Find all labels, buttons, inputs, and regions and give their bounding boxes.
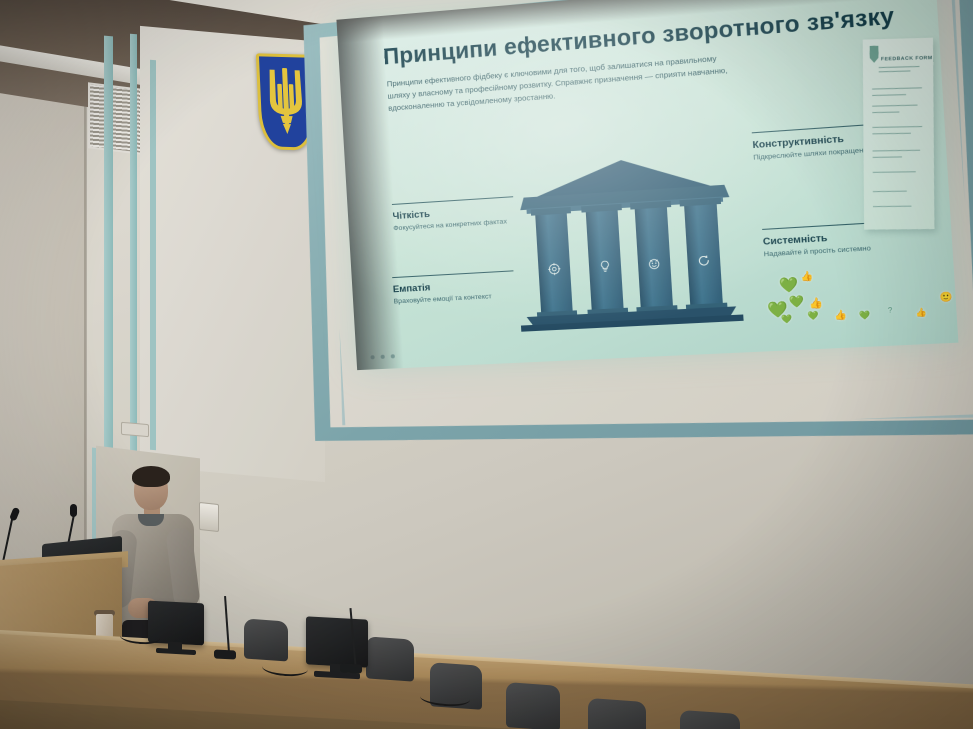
reaction-thumbsup-icon: 👍 — [800, 271, 813, 283]
slide-surface: Mentimeter Принципи ефективного зворотно… — [336, 0, 958, 370]
target-icon — [547, 261, 563, 276]
smiley-face-icon — [646, 256, 662, 271]
reaction-heart-icon: 💚 — [781, 314, 793, 324]
reaction-thumbsup-icon: 👍 — [834, 309, 847, 321]
wall-trim-stripe — [104, 36, 113, 467]
callout-clarity: Чіткість Фокусуйтеся на конкретних факта… — [392, 196, 515, 233]
projected-slide: Mentimeter Принципи ефективного зворотно… — [336, 0, 958, 370]
reaction-thumbsup-icon: 👍 — [809, 298, 824, 310]
reaction-heart-icon: 💚 — [778, 276, 798, 295]
lightbulb-icon — [598, 259, 613, 274]
refresh-cycle-icon — [696, 253, 712, 269]
wall-sensor-box — [199, 502, 219, 532]
reaction-smiley-icon: 🙂 — [939, 291, 953, 303]
reaction-heart-icon: 💚 — [859, 310, 871, 320]
microphone-base — [214, 649, 236, 659]
reaction-question-icon: ? — [888, 307, 893, 315]
projection-screen-assembly: Mentimeter Принципи ефективного зворотно… — [254, 0, 973, 482]
lecture-hall-photo: Mentimeter Принципи ефективного зворотно… — [0, 0, 973, 729]
reaction-thumbsup-icon: 👍 — [915, 307, 927, 317]
monitor[interactable] — [306, 616, 368, 667]
door-inner-molding — [150, 60, 156, 451]
microphone-base — [340, 663, 362, 673]
feedback-form-heading: FEEDBACK FORM — [881, 55, 933, 62]
feedback-form-illustration: FEEDBACK FORM — [863, 38, 935, 230]
wall-plate — [121, 422, 149, 437]
temple-pillar — [535, 213, 572, 312]
presenter-hair — [132, 466, 170, 487]
form-flag-icon — [870, 46, 879, 63]
temple-pillar — [684, 204, 723, 304]
chair — [680, 710, 740, 729]
chair — [588, 698, 646, 729]
greek-temple-illustration — [518, 153, 738, 333]
callout-empathy: Емпатія Враховуйте емоції та контекст — [392, 270, 515, 306]
reaction-heart-icon: 💚 — [807, 311, 819, 321]
chair — [244, 618, 288, 661]
chair — [506, 682, 560, 729]
chair — [366, 636, 414, 681]
temple-pillar — [635, 207, 673, 307]
wall-trim-stripe — [130, 34, 137, 464]
temple-pillar — [586, 210, 624, 309]
reaction-heart-icon: 💚 — [788, 294, 804, 309]
